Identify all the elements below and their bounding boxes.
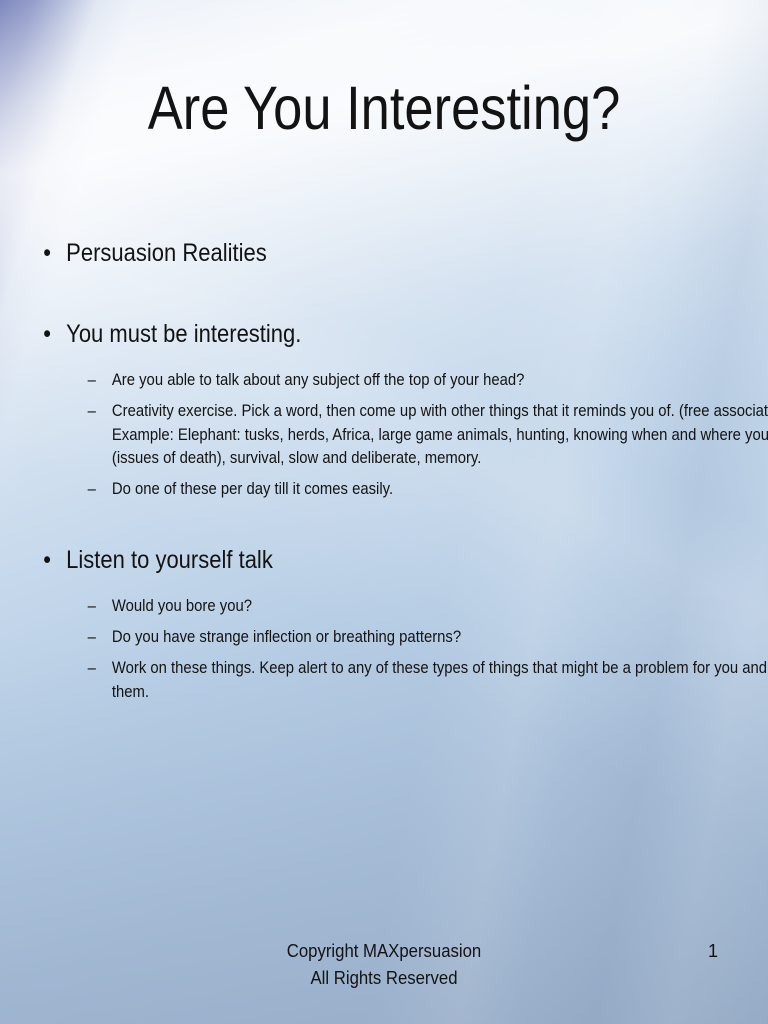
bullet-item-level2: – Would you bore you? [84,595,768,619]
bullet-marker-dash: – [88,400,96,424]
spacer [38,275,738,319]
bullet-item-level2: – Do one of these per day till it comes … [84,478,768,502]
footer-copyright-line: Copyright MAXpersuasion [27,938,741,965]
presentation-slide: Are You Interesting? • Persuasion Realit… [0,0,768,1024]
bullet-marker-dash: – [88,595,96,619]
bullet-text: Listen to yourself talk [66,546,273,574]
footer-rights-line: All Rights Reserved [27,965,741,992]
slide-footer: Copyright MAXpersuasion All Rights Reser… [0,938,768,991]
bullet-text: Work on these things. Keep alert to any … [112,659,768,701]
slide-page-number: 1 [708,938,738,965]
bullet-marker-dot: • [43,319,51,350]
bullet-item-level2: – Creativity exercise. Pick a word, then… [84,400,768,471]
bullet-item-level2: – Work on these things. Keep alert to an… [84,657,768,705]
bullet-text: Do one of these per day till it comes ea… [112,480,393,498]
bullet-item-level1: • Persuasion Realities [38,238,766,269]
bullet-text: Creativity exercise. Pick a word, then c… [112,402,768,468]
bullet-item-level2: – Are you able to talk about any subject… [84,369,768,393]
spacer [38,509,738,545]
spacer [38,581,738,595]
spacer [38,355,738,369]
slide-content: Are You Interesting? • Persuasion Realit… [0,0,768,1024]
bullet-marker-dash: – [88,369,96,393]
bullet-marker-dot: • [43,545,51,576]
slide-body: • Persuasion Realities • You must be int… [38,238,738,711]
slide-title: Are You Interesting? [54,78,714,139]
bullet-text: Do you have strange inflection or breath… [112,628,461,646]
bullet-text: Would you bore you? [112,597,252,615]
bullet-marker-dot: • [43,238,51,269]
bullet-text: Are you able to talk about any subject o… [112,371,525,389]
bullet-text: Persuasion Realities [66,239,267,267]
bullet-marker-dash: – [88,657,96,681]
bullet-text: You must be interesting. [66,320,301,348]
bullet-item-level1: • Listen to yourself talk [38,545,766,576]
bullet-marker-dash: – [88,478,96,502]
bullet-marker-dash: – [88,626,96,650]
bullet-item-level2: – Do you have strange inflection or brea… [84,626,768,650]
bullet-item-level1: • You must be interesting. [38,319,766,350]
